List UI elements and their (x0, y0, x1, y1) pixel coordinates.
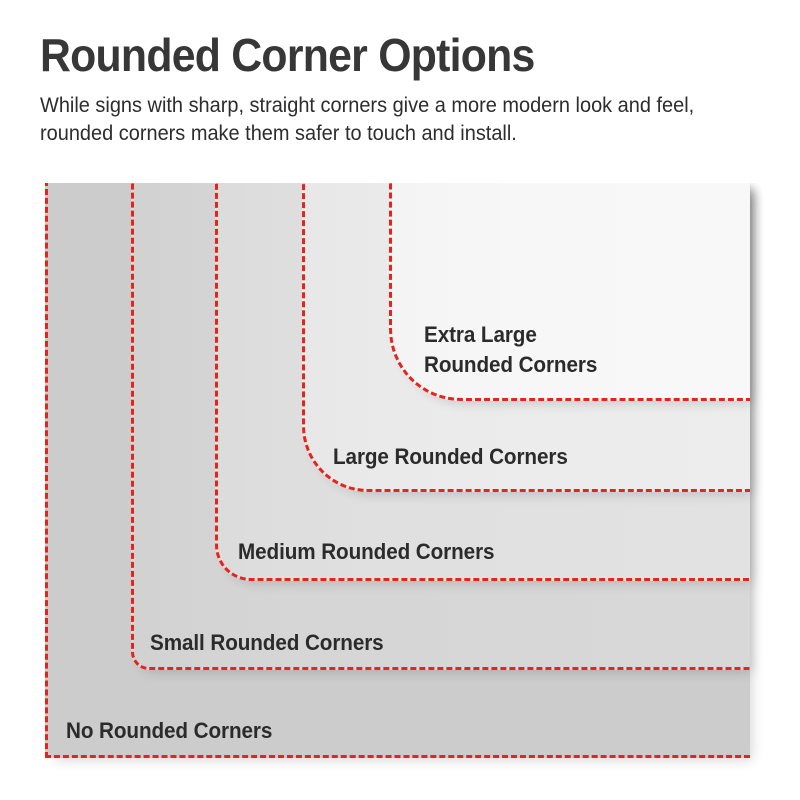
corner-comparison-diagram (0, 183, 800, 800)
label-large-rounded-corners: Large Rounded Corners (333, 442, 568, 472)
header: Rounded Corner Options While signs with … (40, 28, 760, 148)
label-small-rounded-corners: Small Rounded Corners (150, 628, 384, 658)
label-no-rounded-corners: No Rounded Corners (66, 716, 272, 746)
label-medium-rounded-corners: Medium Rounded Corners (238, 537, 494, 567)
infographic-page: Rounded Corner Options While signs with … (0, 0, 800, 800)
page-subtitle: While signs with sharp, straight corners… (40, 92, 724, 148)
page-title: Rounded Corner Options (40, 28, 710, 82)
label-extra-large-rounded-corners: Extra Large Rounded Corners (424, 320, 597, 380)
